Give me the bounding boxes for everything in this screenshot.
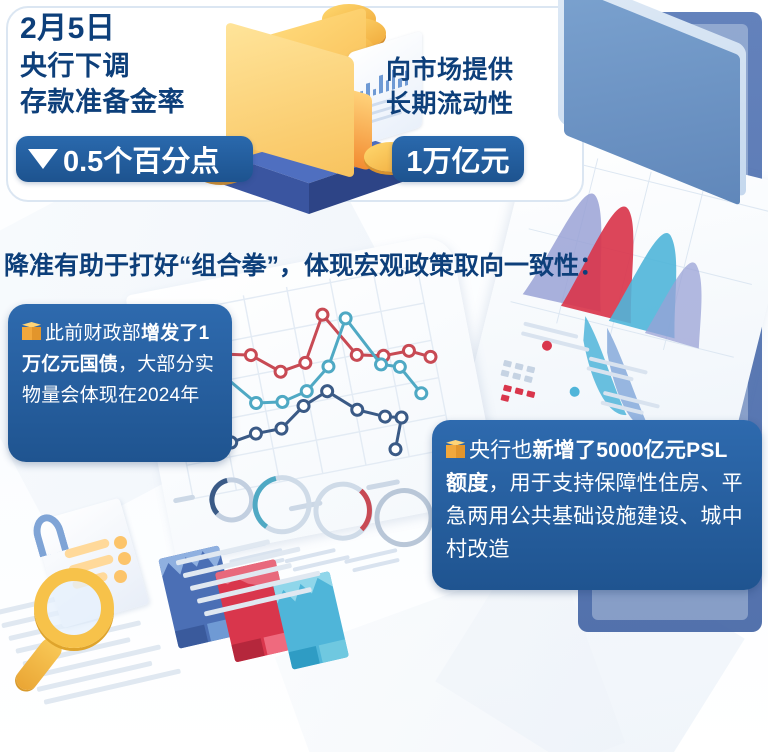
rate-cut-value: 0.5个百分点 <box>63 138 219 180</box>
rate-cut-badge: 0.5个百分点 <box>16 136 253 182</box>
page-title-date: 2月5日 <box>20 10 115 48</box>
triangle-down-icon <box>28 149 58 169</box>
liquidity-line-2: 长期流动性 <box>386 87 514 121</box>
clipboard-dot <box>118 552 131 565</box>
headline-line-2: 央行下调 <box>20 48 130 84</box>
info-box-psl: 央行也新增了5000亿元PSL额度，用于支持保障性住房、平急两用公共基础设施建设… <box>432 420 762 590</box>
clipboard-dot <box>114 536 127 549</box>
cube-icon <box>446 440 465 459</box>
section-headline: 降准有助于打好“组合拳”，体现宏观政策取向一致性： <box>4 249 604 283</box>
cube-icon <box>22 322 41 341</box>
info-box-fiscal-text: 此前财政部增发了1万亿元国债，大部分实物量会体现在2024年 <box>22 318 216 411</box>
liquidity-amount-badge: 1万亿元 <box>392 136 524 182</box>
info-box-psl-text: 央行也新增了5000亿元PSL额度，用于支持保障性住房、平急两用公共基础设施建设… <box>446 434 746 566</box>
infographic-canvas: 2月5日 央行下调 存款准备金率 0.5个百分点 向市场提供 长期流动性 1万亿… <box>0 0 768 752</box>
magnifier-clipboard-illustration <box>6 500 206 715</box>
liquidity-amount-value: 1万亿元 <box>406 138 509 180</box>
liquidity-line-1: 向市场提供 <box>386 53 514 87</box>
info-box-fiscal: 此前财政部增发了1万亿元国债，大部分实物量会体现在2024年 <box>8 304 232 462</box>
magnifying-glass-icon <box>34 568 114 648</box>
headline-line-3: 存款准备金率 <box>20 84 185 120</box>
monitor-icon <box>556 6 768 206</box>
clipboard-dot <box>114 570 127 583</box>
